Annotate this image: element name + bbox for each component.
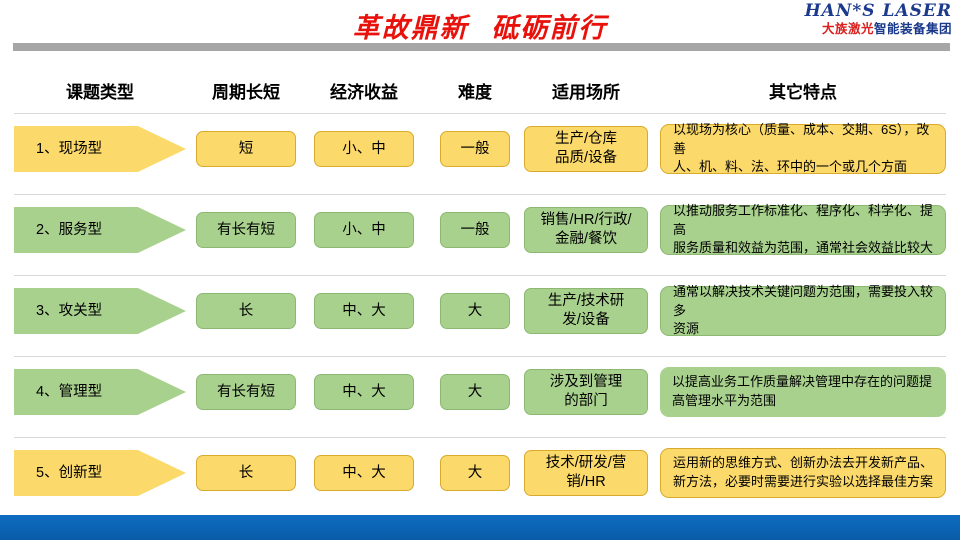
cell-difficulty[interactable]: 一般 [440, 131, 510, 167]
company-logo: HAN*S LASER 大族激光智能装备集团 [805, 3, 952, 36]
cell-type[interactable]: 4、管理型 [14, 369, 186, 415]
logo-chinese-text: 大族激光智能装备集团 [805, 23, 952, 36]
cell-venue[interactable]: 涉及到管理 的部门 [524, 369, 648, 415]
cell-difficulty[interactable]: 大 [440, 374, 510, 410]
cell-venue[interactable]: 生产/仓库 品质/设备 [524, 126, 648, 172]
logo-chinese-red: 大族激光 [822, 22, 874, 36]
logo-chinese-blue: 智能装备集团 [874, 22, 952, 36]
cell-benefit[interactable]: 中、大 [314, 374, 414, 410]
cell-benefit[interactable]: 小、中 [314, 131, 414, 167]
cell-difficulty[interactable]: 一般 [440, 212, 510, 248]
column-header-type: 课题类型 [20, 78, 180, 103]
topic-type-table: 课题类型周期长短经济收益难度适用场所其它特点1、现场型短小、中一般生产/仓库 品… [0, 70, 960, 519]
table-header-row: 课题类型周期长短经济收益难度适用场所其它特点 [0, 70, 960, 113]
cell-cycle[interactable]: 长 [196, 293, 296, 329]
logo-english-text: HAN*S LASER [805, 3, 952, 20]
cell-features[interactable]: 以提高业务工作质量解决管理中存在的问题提 高管理水平为范围 [660, 367, 946, 417]
table-row[interactable]: 4、管理型有长有短中、大大涉及到管理 的部门以提高业务工作质量解决管理中存在的问… [0, 357, 960, 437]
cell-cycle[interactable]: 长 [196, 455, 296, 491]
cell-difficulty[interactable]: 大 [440, 293, 510, 329]
cell-benefit[interactable]: 中、大 [314, 455, 414, 491]
cell-type[interactable]: 5、创新型 [14, 450, 186, 496]
cell-difficulty[interactable]: 大 [440, 455, 510, 491]
cell-type[interactable]: 2、服务型 [14, 207, 186, 253]
table-row[interactable]: 1、现场型短小、中一般生产/仓库 品质/设备以现场为核心（质量、成本、交期、6S… [0, 114, 960, 194]
cell-venue[interactable]: 技术/研发/营 销/HR [524, 450, 648, 496]
cell-venue[interactable]: 销售/HR/行政/ 金融/餐饮 [524, 207, 648, 253]
cell-cycle[interactable]: 短 [196, 131, 296, 167]
cell-type[interactable]: 3、攻关型 [14, 288, 186, 334]
cell-features[interactable]: 运用新的思维方式、创新办法去开发新产品、 新方法，必要时需要进行实验以选择最佳方… [660, 448, 946, 498]
cell-features[interactable]: 以现场为核心（质量、成本、交期、6S），改善 人、机、料、法、环中的一个或几个方… [660, 124, 946, 174]
column-header-venue: 适用场所 [506, 78, 666, 103]
cell-benefit[interactable]: 中、大 [314, 293, 414, 329]
table-row[interactable]: 2、服务型有长有短小、中一般销售/HR/行政/ 金融/餐饮以推动服务工作标准化、… [0, 195, 960, 275]
table-row[interactable]: 3、攻关型长中、大大生产/技术研 发/设备通常以解决技术关键问题为范围，需要投入… [0, 276, 960, 356]
cell-features[interactable]: 通常以解决技术关键问题为范围，需要投入较多 资源 [660, 286, 946, 336]
table-row[interactable]: 5、创新型长中、大大技术/研发/营 销/HR运用新的思维方式、创新办法去开发新产… [0, 438, 960, 518]
cell-venue[interactable]: 生产/技术研 发/设备 [524, 288, 648, 334]
cell-cycle[interactable]: 有长有短 [196, 374, 296, 410]
cell-cycle[interactable]: 有长有短 [196, 212, 296, 248]
cell-features[interactable]: 以推动服务工作标准化、程序化、科学化、提高 服务质量和效益为范围，通常社会效益比… [660, 205, 946, 255]
column-header-features: 其它特点 [723, 78, 883, 103]
cell-type[interactable]: 1、现场型 [14, 126, 186, 172]
header-divider-band [13, 43, 950, 51]
slide-footer-bar [0, 515, 960, 540]
cell-benefit[interactable]: 小、中 [314, 212, 414, 248]
